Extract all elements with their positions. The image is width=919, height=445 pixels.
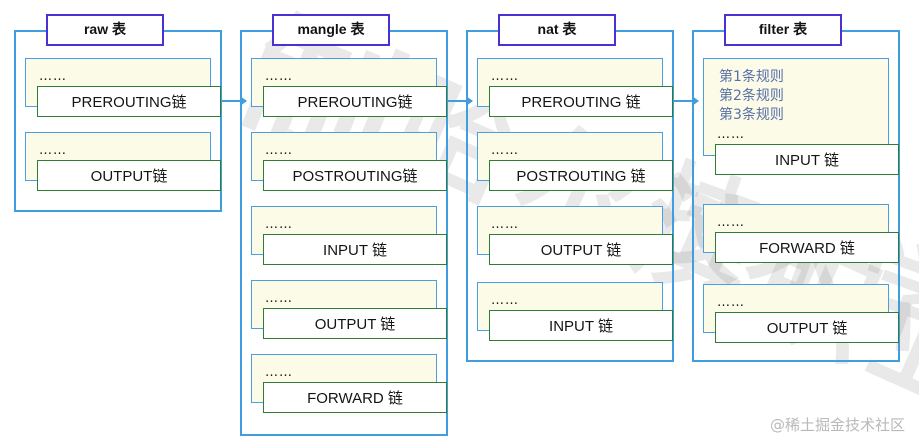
chain-label[interactable]: PREROUTING 链 [489,86,673,117]
arrow-raw-to-mangle [222,100,246,102]
chain-label[interactable]: POSTROUTING 链 [489,160,673,191]
chain-filter-input[interactable]: 第1条规则 第2条规则 第3条规则 …… INPUT 链 [703,58,889,168]
chain-dots: …… [717,128,745,141]
rule-item: 第1条规则 [719,68,784,87]
chain-dots: …… [39,70,67,83]
chain-label[interactable]: FORWARD 链 [263,382,447,413]
chain-dots: …… [265,292,293,305]
diagram-canvas: 制 哈尔滨职业 技术学院 raw 表 …… PREROUTING链 …… OUT… [0,0,919,445]
rule-item: 第3条规则 [719,106,784,125]
chain-mangle-prerouting[interactable]: …… PREROUTING链 [251,58,437,120]
chain-label[interactable]: POSTROUTING链 [263,160,447,191]
chain-label[interactable]: FORWARD 链 [715,232,899,263]
chain-label[interactable]: INPUT 链 [489,310,673,341]
chain-dots: …… [265,70,293,83]
chain-dots: …… [265,366,293,379]
table-header-filter[interactable]: filter 表 [724,14,842,46]
chain-label[interactable]: INPUT 链 [263,234,447,265]
chain-mangle-postrouting[interactable]: …… POSTROUTING链 [251,132,437,194]
chain-dots: …… [265,144,293,157]
credit-watermark: @稀土掘金技术社区 [770,414,905,435]
chain-dots: …… [491,218,519,231]
chain-raw-prerouting[interactable]: …… PREROUTING链 [25,58,211,120]
chain-mangle-forward[interactable]: …… FORWARD 链 [251,354,437,416]
chain-dots: …… [491,144,519,157]
chain-label[interactable]: PREROUTING链 [37,86,221,117]
chain-dots: …… [491,70,519,83]
chain-dots: …… [39,144,67,157]
chain-label[interactable]: OUTPUT 链 [263,308,447,339]
chain-raw-output[interactable]: …… OUTPUT链 [25,132,211,194]
table-header-raw[interactable]: raw 表 [46,14,164,46]
chain-dots: …… [491,294,519,307]
chain-label[interactable]: OUTPUT 链 [715,312,899,343]
chain-filter-output[interactable]: …… OUTPUT 链 [703,284,889,346]
arrow-mangle-to-nat [448,100,472,102]
rule-item: 第2条规则 [719,87,784,106]
chain-filter-forward[interactable]: …… FORWARD 链 [703,204,889,266]
chain-rules-list: 第1条规则 第2条规则 第3条规则 [719,68,784,125]
chain-nat-prerouting[interactable]: …… PREROUTING 链 [477,58,663,120]
chain-nat-output[interactable]: …… OUTPUT 链 [477,206,663,268]
chain-nat-input[interactable]: …… INPUT 链 [477,282,663,344]
chain-label[interactable]: PREROUTING链 [263,86,447,117]
table-header-mangle[interactable]: mangle 表 [272,14,390,46]
chain-label[interactable]: OUTPUT链 [37,160,221,191]
chain-mangle-output[interactable]: …… OUTPUT 链 [251,280,437,342]
chain-dots: …… [717,296,745,309]
arrow-nat-to-filter [674,100,698,102]
chain-label[interactable]: OUTPUT 链 [489,234,673,265]
chain-dots: …… [717,216,745,229]
table-header-nat[interactable]: nat 表 [498,14,616,46]
chain-nat-postrouting[interactable]: …… POSTROUTING 链 [477,132,663,194]
chain-mangle-input[interactable]: …… INPUT 链 [251,206,437,268]
chain-label[interactable]: INPUT 链 [715,144,899,175]
chain-dots: …… [265,218,293,231]
